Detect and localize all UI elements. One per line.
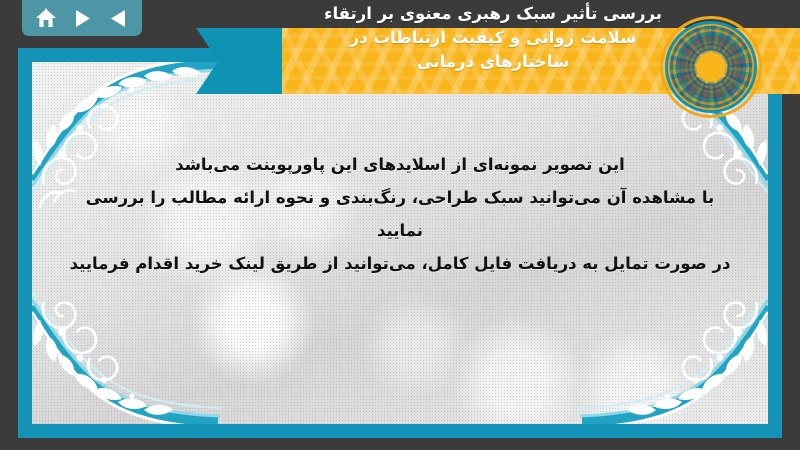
navigation-bar bbox=[22, 0, 142, 36]
previous-slide-button[interactable] bbox=[103, 4, 133, 32]
corner-ornament-bottom-right bbox=[568, 274, 768, 424]
next-slide-button[interactable] bbox=[67, 4, 97, 32]
banner-ribbon-tail bbox=[196, 28, 282, 94]
slide-body-text: این تصویر نمونه‌ای از اسلایدهای این پاور… bbox=[62, 148, 738, 280]
window-chrome: این تصویر نمونه‌ای از اسلایدهای این پاور… bbox=[0, 0, 800, 450]
mandala-outer-border bbox=[660, 16, 762, 118]
triangle-right-icon bbox=[74, 9, 91, 28]
mandala-ornament-icon bbox=[662, 18, 760, 116]
triangle-left-icon bbox=[110, 9, 127, 28]
slide-canvas: این تصویر نمونه‌ای از اسلایدهای این پاور… bbox=[32, 62, 768, 424]
home-button[interactable] bbox=[31, 4, 61, 32]
home-icon bbox=[35, 8, 57, 28]
corner-ornament-bottom-left bbox=[32, 274, 232, 424]
window-bottom-strip bbox=[0, 438, 800, 450]
slide-frame: این تصویر نمونه‌ای از اسلایدهای این پاور… bbox=[18, 48, 782, 438]
